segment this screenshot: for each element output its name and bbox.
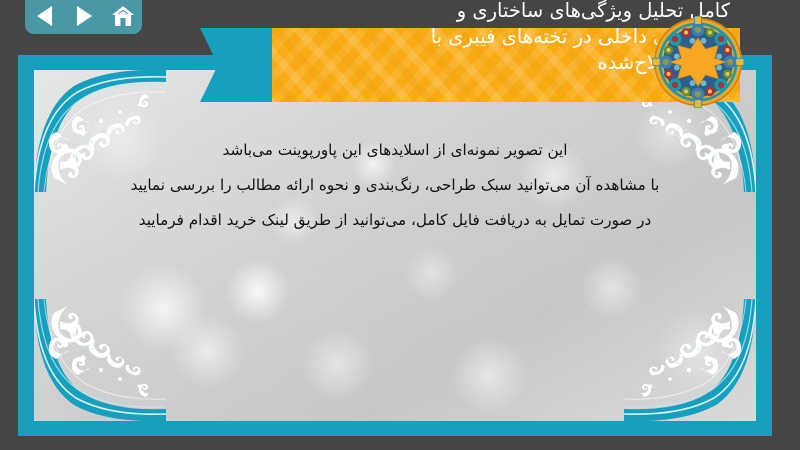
body-line-3: در صورت تمایل به دریافت فایل کامل، می‌تو… xyxy=(18,203,772,238)
next-button[interactable] xyxy=(71,3,97,29)
slide-root: این تصویر نمونه‌ای از اسلایدهای این پاور… xyxy=(0,0,800,450)
previous-triangle-icon xyxy=(35,5,55,27)
previous-button[interactable] xyxy=(32,3,58,29)
home-button[interactable] xyxy=(110,3,136,29)
next-triangle-icon xyxy=(74,5,94,27)
navigation-bar[interactable] xyxy=(25,0,142,34)
persian-medallion-icon xyxy=(652,16,744,108)
home-house-icon xyxy=(111,5,135,28)
content-panel xyxy=(34,70,756,421)
body-text-block: این تصویر نمونه‌ای از اسلایدهای این پاور… xyxy=(18,133,772,238)
body-line-1: این تصویر نمونه‌ای از اسلایدهای این پاور… xyxy=(18,133,772,168)
content-frame: این تصویر نمونه‌ای از اسلایدهای این پاور… xyxy=(18,55,772,436)
body-line-2: با مشاهده آن می‌توانید سبک طراحی، رنگ‌بن… xyxy=(18,168,772,203)
